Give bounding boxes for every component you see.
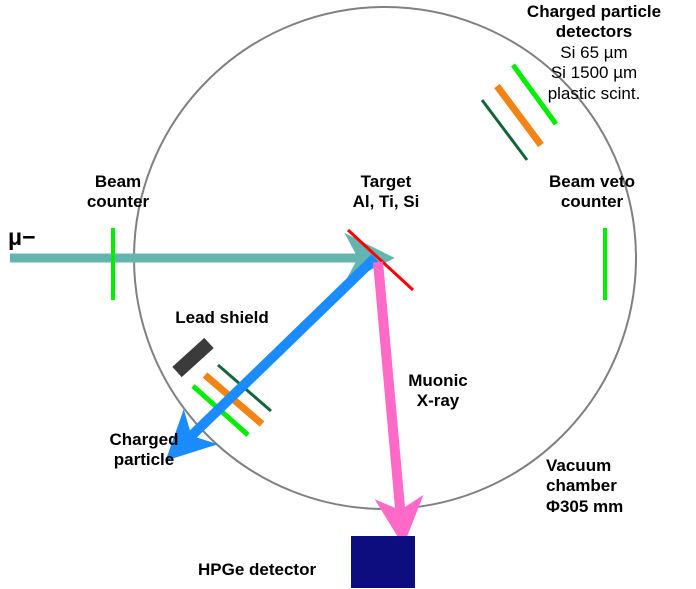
vacuum-chamber-line-2: chamber	[546, 476, 692, 496]
muonic-xray-setup-diagram: Charged particle detectors Si 65 µm Si 1…	[0, 0, 696, 589]
charged-particle-line-2: particle	[74, 450, 214, 470]
beam-counter-line-2: counter	[48, 192, 188, 212]
muon-beam-label: μ−	[8, 224, 68, 251]
beam-veto-line-1: Beam veto	[512, 172, 672, 192]
vacuum-chamber-line-1: Vacuum	[546, 456, 692, 476]
cp-detectors-line-5: plastic scint.	[492, 84, 696, 104]
cp-detectors-line-2: detectors	[492, 22, 696, 42]
hpge-detector-line-1: HPGe detector	[198, 560, 348, 580]
target-line-2: Al, Ti, Si	[316, 192, 456, 212]
hpge-detector-label: HPGe detector	[198, 560, 348, 580]
beam-counter-line-1: Beam	[48, 172, 188, 192]
beam-veto-line-2: counter	[512, 192, 672, 212]
lead-shield-label: Lead shield	[152, 308, 292, 328]
muonic-xray-line-1: Muonic	[380, 371, 496, 391]
target-line-1: Target	[316, 172, 456, 192]
beam-counter-label: Beam counter	[48, 172, 188, 213]
lead-shield-bar	[177, 343, 209, 372]
muonic-xray-line-2: X-ray	[380, 391, 496, 411]
muonic-xray-label: Muonic X-ray	[380, 371, 496, 412]
target-label: Target Al, Ti, Si	[316, 172, 456, 213]
charged-particle-detectors-label: Charged particle detectors Si 65 µm Si 1…	[492, 2, 696, 104]
cp-detectors-line-4: Si 1500 µm	[492, 63, 696, 83]
detector-bar-si-65um	[482, 100, 527, 160]
cp-detectors-line-3: Si 65 µm	[492, 43, 696, 63]
charged-particle-arrow	[185, 258, 375, 442]
charged-particle-label: Charged particle	[74, 430, 214, 471]
lead-shield-line-1: Lead shield	[152, 308, 292, 328]
beam-veto-counter-label: Beam veto counter	[512, 172, 672, 213]
vacuum-chamber-line-3: Φ305 mm	[546, 497, 692, 517]
charged-particle-line-1: Charged	[74, 430, 214, 450]
vacuum-chamber-label: Vacuum chamber Φ305 mm	[546, 456, 692, 517]
hpge-detector-body	[351, 536, 415, 588]
cp-detectors-line-1: Charged particle	[492, 2, 696, 22]
